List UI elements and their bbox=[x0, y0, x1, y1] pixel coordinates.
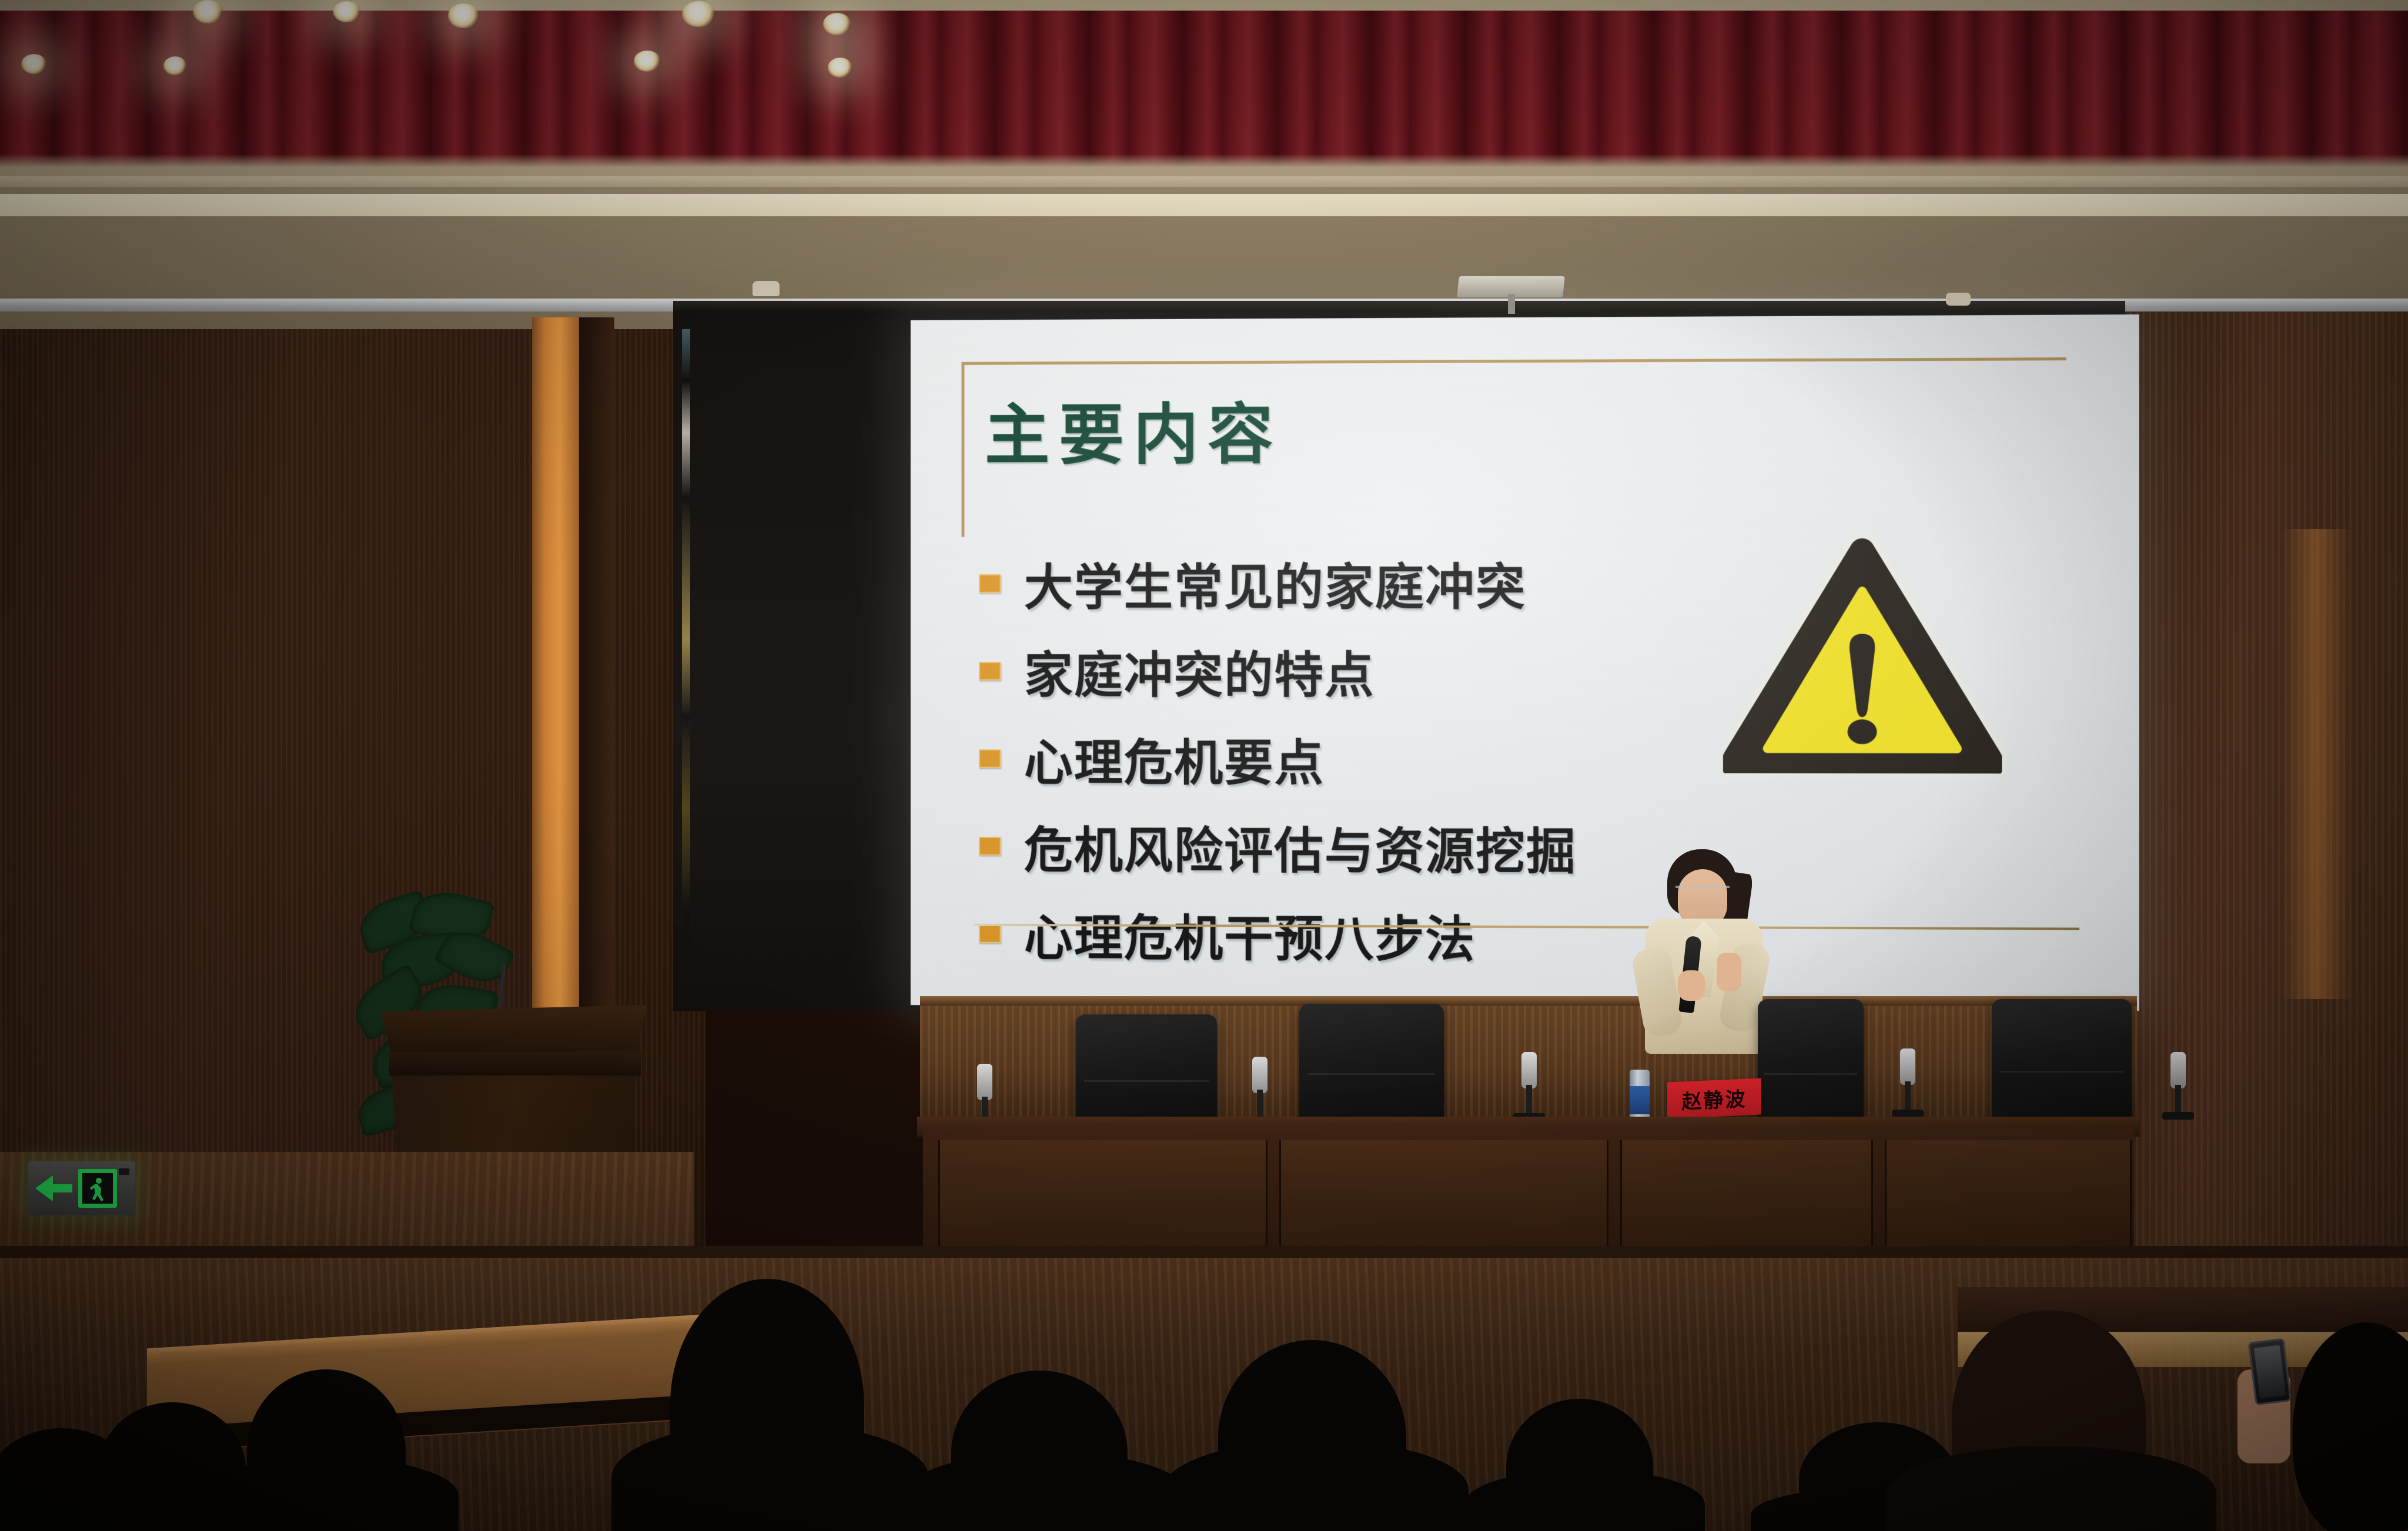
microphone-stem bbox=[1905, 1081, 1911, 1112]
audience-shoulders bbox=[611, 1422, 929, 1531]
chair-seam bbox=[1084, 1080, 1208, 1082]
presenter bbox=[1634, 849, 1770, 1049]
conference-chair[interactable] bbox=[1299, 1004, 1444, 1132]
microphone-stem bbox=[1257, 1090, 1263, 1120]
conference-chair[interactable] bbox=[1992, 999, 2132, 1130]
backdrop-rail bbox=[673, 301, 2125, 311]
presenter-right-hand bbox=[1717, 953, 1741, 991]
table-microphone bbox=[1521, 1052, 1537, 1088]
emergency-exit-sign bbox=[28, 1161, 135, 1215]
microphone-stem bbox=[1526, 1085, 1532, 1115]
conference-chair[interactable] bbox=[1076, 1014, 1217, 1132]
backdrop-edge-glint bbox=[682, 329, 690, 976]
name-placard-text: 赵静波 bbox=[1682, 1083, 1747, 1114]
table-microphone bbox=[2170, 1052, 2186, 1088]
smoke-detector-icon bbox=[1946, 293, 1971, 306]
soffit-band-mid bbox=[0, 216, 2408, 310]
presenter-left-hand bbox=[1678, 970, 1705, 1001]
glasses-icon bbox=[1675, 886, 1730, 888]
table-microphone bbox=[1252, 1057, 1267, 1093]
ceiling-light bbox=[163, 56, 187, 75]
name-placard: 赵静波 bbox=[1667, 1078, 1761, 1119]
exit-sign-led bbox=[119, 1168, 129, 1175]
smartphone[interactable] bbox=[2248, 1338, 2292, 1406]
right-wall-grain bbox=[2116, 311, 2408, 1346]
water-bottle-label bbox=[1630, 1086, 1650, 1114]
auditorium-photo: 主要内容 大学生常见的家庭冲突 家庭冲突的特点 心理危机要点 危机风险评估与资源… bbox=[0, 0, 2408, 1531]
table-microphone bbox=[1900, 1048, 1915, 1085]
ceiling-light bbox=[823, 13, 851, 35]
smartphone-screen bbox=[2254, 1345, 2286, 1399]
table-backwall-trim bbox=[920, 996, 2137, 1006]
audience-shoulders bbox=[905, 1452, 1188, 1531]
ceiling-light bbox=[448, 4, 480, 28]
ceiling-light bbox=[682, 1, 716, 27]
chair-seam bbox=[1764, 1073, 1857, 1075]
ceiling-light bbox=[634, 51, 661, 72]
exit-arrow-icon bbox=[35, 1175, 53, 1201]
cream-trim-band bbox=[0, 194, 2408, 217]
screen-vignette bbox=[911, 314, 2139, 1011]
table-microphone bbox=[977, 1064, 992, 1100]
chair-seam bbox=[2000, 1071, 2123, 1073]
exit-arrow-tail bbox=[52, 1184, 72, 1192]
right-wall-highlight bbox=[2281, 529, 2352, 999]
podium-lip bbox=[389, 1052, 641, 1076]
projection-screen: 主要内容 大学生常见的家庭冲突 家庭冲突的特点 心理危机要点 危机风险评估与资源… bbox=[911, 314, 2139, 1011]
ceiling-light bbox=[333, 1, 361, 22]
chair-seam bbox=[1308, 1073, 1435, 1075]
running-man-icon bbox=[89, 1177, 107, 1208]
ceiling-light bbox=[21, 54, 47, 74]
smoke-detector-icon bbox=[752, 281, 780, 296]
audience-shoulders bbox=[200, 1458, 459, 1531]
ceiling-light bbox=[828, 58, 852, 78]
projector-stem bbox=[1508, 294, 1515, 314]
exit-door-icon bbox=[78, 1169, 117, 1208]
microphone-base bbox=[2162, 1112, 2194, 1120]
conference-chair[interactable] bbox=[1758, 999, 1864, 1134]
microphone-stem bbox=[2175, 1085, 2181, 1114]
ceiling-light bbox=[193, 0, 223, 24]
